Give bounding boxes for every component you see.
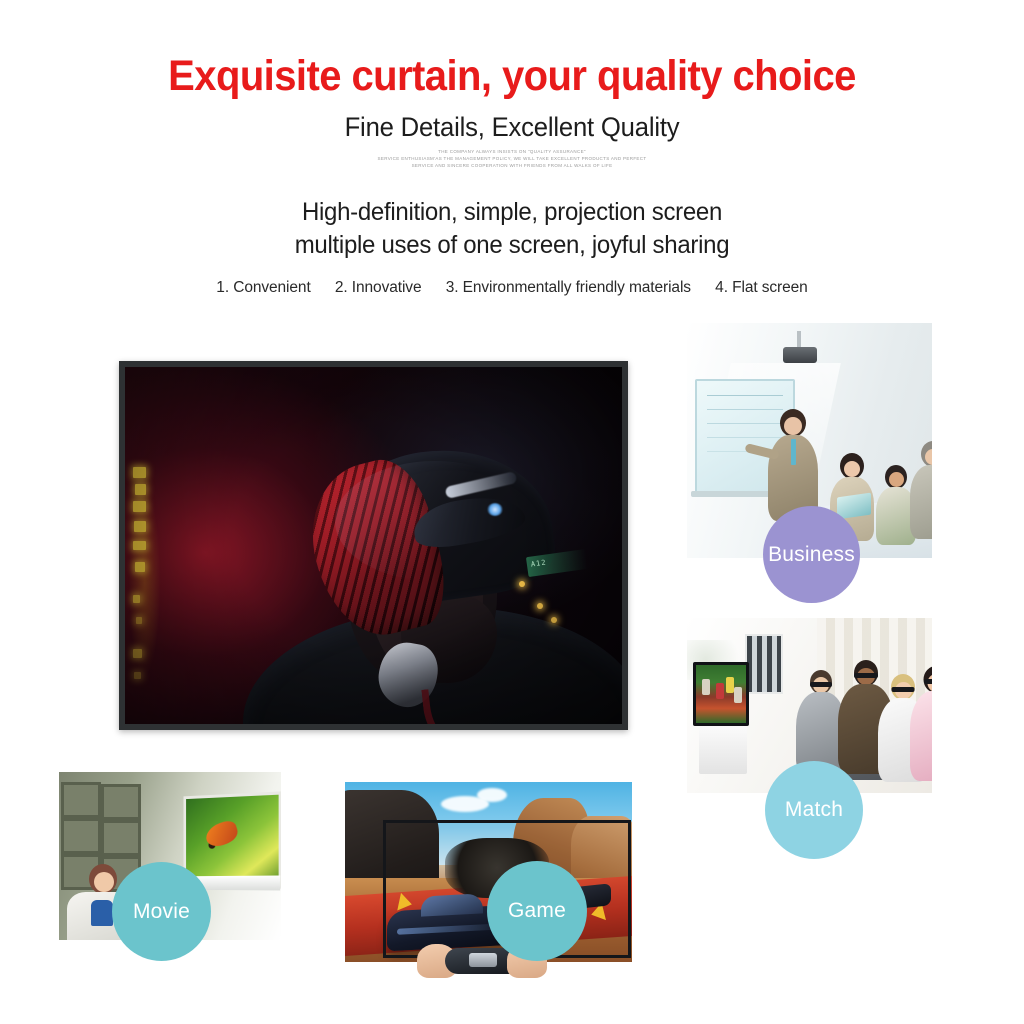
description-line-2: multiple uses of one screen, joyful shar… xyxy=(20,229,1003,262)
scenario-photo-game xyxy=(345,772,632,984)
window-blinds xyxy=(745,634,783,694)
hero-projection-screen: A12 xyxy=(119,361,628,730)
television xyxy=(693,662,749,726)
feature-item-2: 2. Innovative xyxy=(335,279,422,297)
wall-projection-screen xyxy=(183,791,281,888)
tv-stand xyxy=(699,726,747,774)
presenter-person xyxy=(767,409,819,519)
fine-print-line-1: THE COMPANY ALWAYS INSISTS ON "QUALITY A… xyxy=(10,148,1014,155)
feature-list: 1. Convenient 2. Innovative 3. Environme… xyxy=(0,279,1024,297)
ceiling-projector xyxy=(783,347,817,363)
tv-screen-sports xyxy=(696,665,746,723)
fine-print-line-3: SERVICE AND SINCERE COOPERATION WITH FRI… xyxy=(10,162,1014,169)
cloud-2 xyxy=(477,788,507,802)
feature-item-4: 4. Flat screen xyxy=(715,279,808,297)
product-marketing-poster: Exquisite curtain, your quality choice F… xyxy=(0,0,1024,1024)
hero-vignette xyxy=(125,367,622,724)
fine-print-line-2: SERVICE ENTHUSIASM'AS THE MANAGEMENT POL… xyxy=(10,155,1014,162)
hero-screen-content: A12 xyxy=(125,367,622,724)
scenario-badge-movie-label: Movie xyxy=(133,900,190,924)
description-line-1: High-definition, simple, projection scre… xyxy=(20,196,1003,229)
scenario-badge-business[interactable]: Business xyxy=(763,506,860,603)
scenario-badge-match[interactable]: Match xyxy=(765,761,863,859)
nature-scene-image xyxy=(186,795,279,886)
page-subtitle: Fine Details, Excellent Quality xyxy=(26,112,999,143)
scenario-badge-match-label: Match xyxy=(785,798,843,822)
feature-item-3: 3. Environmentally friendly materials xyxy=(446,279,691,297)
product-description: High-definition, simple, projection scre… xyxy=(20,196,1003,262)
scenario-badge-movie[interactable]: Movie xyxy=(112,862,211,961)
scenario-badge-business-label: Business xyxy=(768,543,855,567)
fine-print-block: THE COMPANY ALWAYS INSISTS ON "QUALITY A… xyxy=(10,148,1014,169)
viewer-person-4 xyxy=(909,666,932,778)
scenario-badge-game-label: Game xyxy=(508,899,566,923)
feature-item-1: 1. Convenient xyxy=(216,279,310,297)
attendee-person-3 xyxy=(909,441,932,537)
page-title: Exquisite curtain, your quality choice xyxy=(36,52,988,101)
scenario-badge-game[interactable]: Game xyxy=(487,861,587,961)
